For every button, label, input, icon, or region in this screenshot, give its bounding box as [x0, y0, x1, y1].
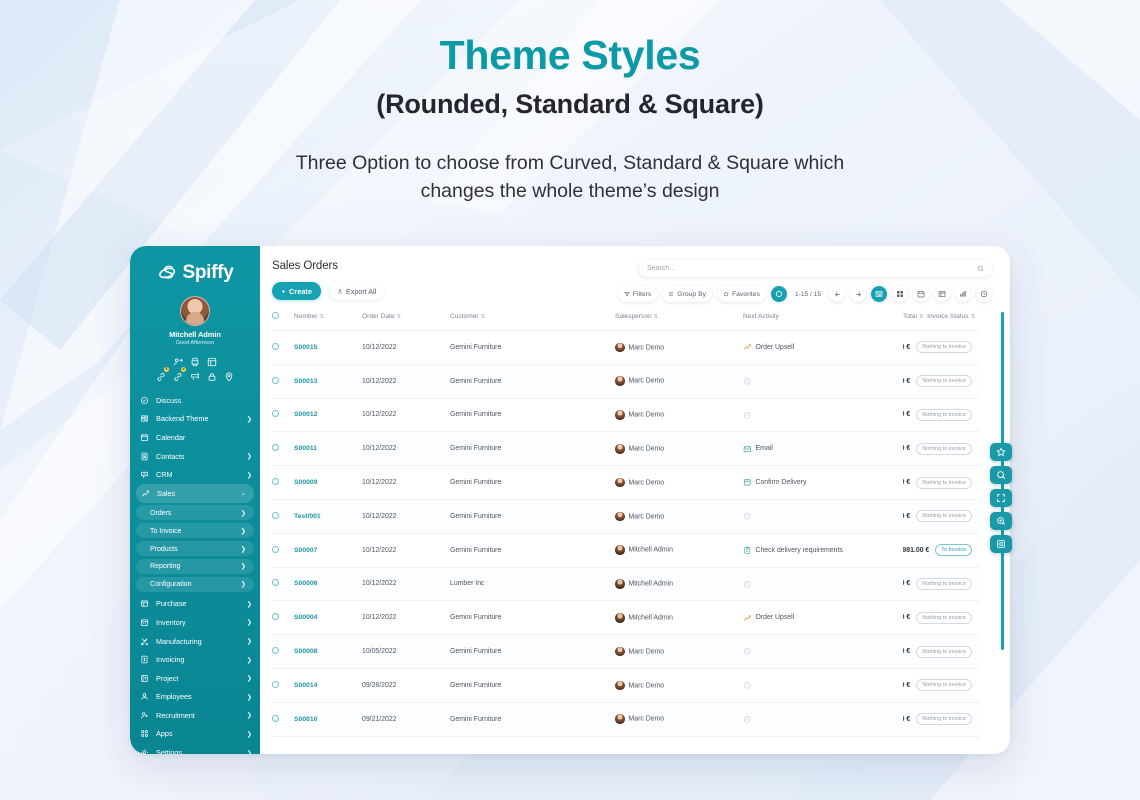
- magnifier-plus-icon: [996, 516, 1006, 526]
- salesperson-name: Mitchell Admin: [629, 615, 673, 622]
- sort-icon: ⇅: [654, 314, 659, 320]
- header-next-activity-label: Next Activity: [743, 313, 779, 320]
- cell-number[interactable]: S00009: [294, 466, 362, 500]
- recruitment-icon: [140, 711, 149, 720]
- sidebar-item-label: Configuration: [150, 580, 234, 588]
- order-number-link[interactable]: S00006: [294, 580, 317, 587]
- cell-next-activity: Check delivery requirements: [743, 533, 903, 567]
- sidebar-nav: DiscussBackend Theme❯CalendarContacts❯CR…: [130, 391, 260, 754]
- row-checkbox[interactable]: [272, 613, 279, 620]
- table-row[interactable]: Test/00110/12/2022Gemini FurnitureMarc D…: [272, 499, 980, 533]
- invoicing-icon: [140, 655, 149, 664]
- row-checkbox-cell[interactable]: [272, 466, 294, 500]
- sidebar-item-label: Invoicing: [156, 655, 240, 664]
- header-total-label: Total: [903, 313, 917, 320]
- cell-number[interactable]: S00014: [294, 668, 362, 702]
- manufacturing-icon: [140, 637, 149, 646]
- sidebar-item-calendar[interactable]: Calendar: [130, 428, 260, 447]
- cell-number[interactable]: S00015: [294, 331, 362, 365]
- search-icon: [996, 470, 1006, 480]
- search-theme-button[interactable]: [990, 466, 1012, 484]
- cell-total-status: 2,962.50 €Nothing to invoice: [903, 398, 980, 432]
- plus-icon: [281, 289, 286, 294]
- avatar[interactable]: [180, 296, 210, 326]
- brand-logo[interactable]: Spiffy: [130, 246, 260, 292]
- salesperson-name: Mitchell Admin: [629, 547, 673, 554]
- header-customer-label: Customer: [450, 313, 479, 320]
- header-order-date-label: Order Date: [362, 313, 395, 320]
- row-checkbox-cell[interactable]: [272, 601, 294, 635]
- total-amount: 14,981.00 €: [903, 547, 929, 554]
- sidebar: Spiffy Mitchell Admin Good Afternoon 5: [130, 246, 260, 754]
- activity-label: Order Upsell: [756, 614, 795, 621]
- clock-icon: [743, 681, 752, 690]
- pivot-view-icon: [938, 290, 946, 298]
- order-number-link[interactable]: S00007: [294, 547, 317, 554]
- header-total-status[interactable]: Total⇅ Invoice Status⇅: [903, 312, 980, 331]
- sidebar-item-label: Settings: [156, 748, 240, 754]
- order-number-link[interactable]: Test/001: [294, 513, 321, 520]
- brand-name: Spiffy: [183, 262, 234, 284]
- row-checkbox-cell[interactable]: [272, 567, 294, 601]
- row-checkbox[interactable]: [272, 478, 279, 485]
- salesperson-name: Marc Demo: [629, 344, 665, 351]
- cell-total-status: 11,837.50 €Nothing to invoice: [903, 668, 980, 702]
- sidebar-item-label: Apps: [156, 729, 240, 738]
- status-badge: To Invoice: [935, 544, 972, 556]
- list-view-icon: [875, 290, 883, 298]
- page-subtitle: (Rounded, Standard & Square): [0, 89, 1140, 120]
- refresh-button[interactable]: [771, 286, 787, 302]
- chart-line-icon: [141, 489, 150, 498]
- avatar: [615, 478, 625, 488]
- row-checkbox[interactable]: [272, 681, 279, 688]
- avatar: [615, 613, 625, 623]
- sidebar-item-label: Backend Theme: [156, 414, 240, 423]
- sidebar-item-inventory[interactable]: Inventory❯: [130, 613, 260, 632]
- cell-customer: Gemini Furniture: [450, 533, 615, 567]
- cell-total-status: 11,050.00 €Nothing to invoice: [903, 364, 980, 398]
- cell-number[interactable]: S00010: [294, 702, 362, 736]
- chevron-right-icon: ❯: [247, 749, 252, 754]
- header-number[interactable]: Number⇅: [294, 312, 362, 331]
- order-number-link[interactable]: S00015: [294, 344, 317, 351]
- chevron-right-icon: ❯: [247, 618, 252, 626]
- chevron-right-icon: ❯: [241, 562, 246, 570]
- chevron-right-icon: ❯: [247, 711, 252, 719]
- quick-icons-row-2: 5 4: [130, 369, 260, 379]
- search-bar[interactable]: [639, 260, 992, 277]
- sidebar-item-label: Inventory: [156, 618, 240, 627]
- chevron-right-icon: ❯: [247, 415, 252, 423]
- header-order-date[interactable]: Order Date⇅: [362, 312, 450, 331]
- pivot-view-button[interactable]: [934, 286, 950, 302]
- table-row[interactable]: S0000710/12/2022Gemini FurnitureMitchell…: [272, 533, 980, 567]
- sidebar-item-invoicing[interactable]: Invoicing❯: [130, 650, 260, 669]
- cell-total-status: 9,772.50 €Nothing to invoice: [903, 635, 980, 669]
- star-icon: [723, 291, 729, 297]
- clipboard-icon: [743, 546, 752, 555]
- cell-number[interactable]: S00007: [294, 533, 362, 567]
- chevron-right-icon: ❯: [247, 674, 252, 682]
- chevron-right-icon: ❯: [247, 730, 252, 738]
- table-row[interactable]: S0001210/12/2022Gemini FurnitureMarc Dem…: [272, 398, 980, 432]
- purchase-icon: [140, 599, 149, 608]
- prev-page-button[interactable]: [829, 286, 845, 302]
- row-checkbox[interactable]: [272, 579, 279, 586]
- row-checkbox[interactable]: [272, 512, 279, 519]
- row-checkbox-cell[interactable]: [272, 702, 294, 736]
- salesperson-name: Marc Demo: [629, 716, 665, 723]
- cell-number[interactable]: S00012: [294, 398, 362, 432]
- group-by-button[interactable]: Group By: [662, 286, 712, 302]
- cell-next-activity: [743, 364, 903, 398]
- row-checkbox[interactable]: [272, 444, 279, 451]
- arrow-left-icon: [834, 291, 841, 298]
- select-all-header[interactable]: [272, 312, 294, 331]
- cell-salesperson: Marc Demo: [615, 702, 743, 736]
- salesperson-name: Marc Demo: [629, 648, 665, 655]
- kanban-view-button[interactable]: [892, 286, 908, 302]
- sidebar-item-orders[interactable]: Orders❯: [136, 505, 254, 520]
- cell-next-activity: Email: [743, 432, 903, 466]
- cell-salesperson: Mitchell Admin: [615, 601, 743, 635]
- sidebar-item-settings[interactable]: Settings❯: [130, 743, 260, 754]
- sidebar-item-contacts[interactable]: Contacts❯: [130, 447, 260, 466]
- order-number-link[interactable]: S00014: [294, 682, 317, 689]
- search-icon[interactable]: [977, 265, 984, 272]
- filters-label: Filters: [633, 291, 652, 298]
- lock-icon[interactable]: [207, 369, 217, 379]
- status-badge: Nothing to invoice: [916, 713, 972, 725]
- row-checkbox[interactable]: [272, 377, 279, 384]
- sidebar-item-products[interactable]: Products❯: [136, 541, 254, 556]
- crm-icon: [140, 470, 149, 479]
- clock-icon: [743, 411, 752, 420]
- order-number-link[interactable]: S00013: [294, 378, 317, 385]
- fullscreen-button[interactable]: [990, 489, 1012, 507]
- salesperson-name: Mitchell Admin: [629, 581, 673, 588]
- search-input[interactable]: [647, 265, 973, 272]
- cell-customer: Lumber Inc: [450, 567, 615, 601]
- cell-next-activity: [743, 635, 903, 669]
- cell-salesperson: Marc Demo: [615, 635, 743, 669]
- chat-icon: [140, 396, 149, 405]
- table-row[interactable]: S0001110/12/2022Gemini FurnitureMarc Dem…: [272, 432, 980, 466]
- total-amount: 3,175.00 €: [903, 445, 910, 452]
- cell-number[interactable]: Test/001: [294, 499, 362, 533]
- cell-next-activity: [743, 398, 903, 432]
- order-number-link[interactable]: S00008: [294, 648, 317, 655]
- total-amount: 7,387.50 €: [903, 716, 910, 723]
- create-button-label: Create: [289, 287, 312, 296]
- cell-order-date: 10/12/2022: [362, 601, 450, 635]
- sort-icon: ⇅: [919, 314, 924, 320]
- hero-section: Theme Styles (Rounded, Standard & Square…: [0, 34, 1140, 206]
- cell-customer: Gemini Furniture: [450, 601, 615, 635]
- total-amount: 7,315.00 €: [903, 513, 910, 520]
- sidebar-item-label: Recruitment: [156, 711, 240, 720]
- activity-view-icon: [980, 290, 988, 298]
- row-checkbox-cell[interactable]: [272, 364, 294, 398]
- salesperson-name: Marc Demo: [629, 378, 665, 385]
- avatar: [615, 545, 625, 555]
- sort-icon: ⇅: [481, 314, 486, 320]
- cell-total-status: 5,125.00 €Nothing to invoice: [903, 466, 980, 500]
- row-checkbox-cell[interactable]: [272, 331, 294, 365]
- cell-salesperson: Marc Demo: [615, 466, 743, 500]
- row-checkbox-cell[interactable]: [272, 668, 294, 702]
- cell-total-status: 750.00 €Nothing to invoice: [903, 567, 980, 601]
- salesperson-name: Marc Demo: [629, 682, 665, 689]
- row-checkbox-cell[interactable]: [272, 432, 294, 466]
- cell-next-activity: [743, 499, 903, 533]
- row-checkbox[interactable]: [272, 410, 279, 417]
- row-checkbox[interactable]: [272, 343, 279, 350]
- avatar: [615, 579, 625, 589]
- grid-apps-icon[interactable]: [207, 354, 217, 364]
- table-row[interactable]: S0001409/28/2022Gemini FurnitureMarc Dem…: [272, 668, 980, 702]
- status-badge: Nothing to invoice: [916, 612, 972, 624]
- salesperson-name: Marc Demo: [629, 446, 665, 453]
- total-amount: 5,125.00 €: [903, 479, 910, 486]
- sidebar-item-label: Employees: [156, 692, 240, 701]
- order-number-link[interactable]: S00004: [294, 614, 317, 621]
- cell-order-date: 09/21/2022: [362, 702, 450, 736]
- save-layout-button[interactable]: [990, 535, 1012, 553]
- table-header-row: Number⇅ Order Date⇅ Customer⇅ Salesperso…: [272, 312, 980, 331]
- calendar-view-button[interactable]: [913, 286, 929, 302]
- cell-total-status: 7,315.00 €Nothing to invoice: [903, 499, 980, 533]
- zoom-button[interactable]: [990, 512, 1012, 530]
- apps-icon: [140, 729, 149, 738]
- contacts-icon: [140, 452, 149, 461]
- spiffy-logo-icon: [157, 262, 179, 284]
- header-salesperson[interactable]: Salesperson⇅: [615, 312, 743, 331]
- cell-customer: Gemini Furniture: [450, 635, 615, 669]
- header-invoice-status-label: Invoice Status: [927, 313, 968, 320]
- row-checkbox[interactable]: [272, 647, 279, 654]
- table-row[interactable]: S0001310/12/2022Gemini FurnitureMarc Dem…: [272, 364, 980, 398]
- sidebar-item-purchase[interactable]: Purchase❯: [130, 595, 260, 614]
- cell-order-date: 10/12/2022: [362, 567, 450, 601]
- cell-salesperson: Marc Demo: [615, 668, 743, 702]
- activity-label: Email: [756, 445, 773, 452]
- sidebar-item-crm[interactable]: CRM❯: [130, 465, 260, 484]
- chevron-right-icon: ❯: [241, 509, 246, 517]
- row-checkbox-cell[interactable]: [272, 499, 294, 533]
- cell-order-date: 10/12/2022: [362, 499, 450, 533]
- row-checkbox[interactable]: [272, 546, 279, 553]
- kanban-view-icon: [896, 290, 904, 298]
- sidebar-item-discuss[interactable]: Discuss: [130, 391, 260, 410]
- orders-table-container[interactable]: Number⇅ Order Date⇅ Customer⇅ Salesperso…: [260, 312, 1010, 754]
- project-icon: [140, 674, 149, 683]
- chevron-right-icon: ❯: [247, 693, 252, 701]
- avatar: [615, 444, 625, 454]
- avatar: [615, 376, 625, 386]
- order-number-link[interactable]: S00010: [294, 716, 317, 723]
- sidebar-item-apps[interactable]: Apps❯: [130, 725, 260, 744]
- row-checkbox[interactable]: [272, 715, 279, 722]
- activity-label: Order Upsell: [756, 344, 795, 351]
- email-icon: [743, 445, 752, 454]
- header-customer[interactable]: Customer⇅: [450, 312, 615, 331]
- table-row[interactable]: S0000810/05/2022Gemini FurnitureMarc Dem…: [272, 635, 980, 669]
- link-icon[interactable]: 5: [156, 369, 166, 379]
- sidebar-item-to-invoice[interactable]: To Invoice❯: [136, 523, 254, 538]
- cell-total-status: 2,240.00 €Nothing to invoice: [903, 601, 980, 635]
- sidebar-item-manufacturing[interactable]: Manufacturing❯: [130, 632, 260, 651]
- employees-icon: [140, 692, 149, 701]
- badge-count: 5: [164, 367, 169, 372]
- link-alt-icon[interactable]: 4: [173, 369, 183, 379]
- cell-next-activity: [743, 702, 903, 736]
- cell-salesperson: Marc Demo: [615, 364, 743, 398]
- cell-order-date: 10/12/2022: [362, 432, 450, 466]
- cell-customer: Gemini Furniture: [450, 331, 615, 365]
- graph-view-button[interactable]: [955, 286, 971, 302]
- orders-table: Number⇅ Order Date⇅ Customer⇅ Salesperso…: [272, 312, 980, 737]
- download-icon: [337, 288, 343, 294]
- sidebar-item-label: Contacts: [156, 452, 240, 461]
- cell-number[interactable]: S00011: [294, 432, 362, 466]
- clock-icon: [743, 377, 752, 386]
- export-all-button[interactable]: Export All: [329, 282, 384, 300]
- total-amount: 9,772.50 €: [903, 648, 910, 655]
- table-row[interactable]: S0001510/12/2022Gemini FurnitureMarc Dem…: [272, 331, 980, 365]
- table-row[interactable]: S0000610/12/2022Lumber IncMitchell Admin…: [272, 567, 980, 601]
- total-amount: 11,837.50 €: [903, 682, 910, 689]
- favorites-label: Favorites: [732, 291, 760, 298]
- row-checkbox-cell[interactable]: [272, 398, 294, 432]
- row-checkbox-cell[interactable]: [272, 635, 294, 669]
- total-amount: 750.00 €: [903, 580, 910, 587]
- inventory-icon: [140, 618, 149, 627]
- sidebar-item-recruitment[interactable]: Recruitment❯: [130, 706, 260, 725]
- header-next-activity[interactable]: Next Activity: [743, 312, 903, 331]
- activity-label: Check delivery requirements: [756, 547, 843, 554]
- activity-view-button[interactable]: [976, 286, 992, 302]
- export-all-label: Export All: [346, 287, 376, 296]
- cell-customer: Gemini Furniture: [450, 398, 615, 432]
- sidebar-item-employees[interactable]: Employees❯: [130, 687, 260, 706]
- row-checkbox-cell[interactable]: [272, 533, 294, 567]
- sidebar-item-label: Products: [150, 545, 234, 553]
- calendar-view-icon: [917, 290, 925, 298]
- cell-total-status: 14,981.00 €To Invoice: [903, 533, 980, 567]
- sidebar-item-label: Discuss: [156, 396, 252, 405]
- chevron-right-icon: ❯: [247, 637, 252, 645]
- cell-next-activity: Order Upsell: [743, 331, 903, 365]
- total-amount: 2,962.50 €: [903, 411, 910, 418]
- sidebar-item-sales[interactable]: Sales⌄: [136, 484, 254, 503]
- sidebar-item-label: Reporting: [150, 562, 234, 570]
- cell-number[interactable]: S00004: [294, 601, 362, 635]
- sidebar-item-label: Purchase: [156, 599, 240, 608]
- cell-number[interactable]: S00013: [294, 364, 362, 398]
- activity-label: Confirm Delivery: [756, 479, 807, 486]
- chevron-right-icon: ❯: [247, 600, 252, 608]
- next-page-button[interactable]: [850, 286, 866, 302]
- sidebar-item-label: Calendar: [156, 433, 252, 442]
- filter-icon: [624, 291, 630, 297]
- cell-order-date: 10/12/2022: [362, 398, 450, 432]
- chart-upsell-icon: [743, 614, 752, 623]
- chevron-right-icon: ❯: [241, 580, 246, 588]
- user-panel: Mitchell Admin Good Afternoon: [130, 292, 260, 346]
- table-head: Number⇅ Order Date⇅ Customer⇅ Salesperso…: [272, 312, 980, 331]
- chart-upsell-icon: [743, 343, 752, 352]
- cell-customer: Gemini Furniture: [450, 702, 615, 736]
- status-badge: Nothing to invoice: [916, 375, 972, 387]
- sort-icon: ⇅: [319, 314, 324, 320]
- list-view-button[interactable]: [871, 286, 887, 302]
- status-badge: Nothing to invoice: [916, 679, 972, 691]
- breadcrumb: Sales Orders: [272, 260, 384, 272]
- sort-icon: ⇅: [971, 314, 976, 320]
- print-icon[interactable]: [190, 354, 200, 364]
- status-badge: Nothing to invoice: [916, 578, 972, 590]
- cell-total-status: 7,387.50 €Nothing to invoice: [903, 702, 980, 736]
- cell-salesperson: Marc Demo: [615, 499, 743, 533]
- cell-order-date: 10/12/2022: [362, 466, 450, 500]
- cell-number[interactable]: S00008: [294, 635, 362, 669]
- page-description: Three Option to choose from Curved, Stan…: [0, 149, 1140, 206]
- cell-number[interactable]: S00006: [294, 567, 362, 601]
- table-row[interactable]: S0000410/12/2022Gemini FurnitureMitchell…: [272, 601, 980, 635]
- pin-icon[interactable]: [224, 369, 234, 379]
- sidebar-item-project[interactable]: Project❯: [130, 669, 260, 688]
- order-number-link[interactable]: S00009: [294, 479, 317, 486]
- sidebar-item-configuration[interactable]: Configuration❯: [136, 577, 254, 592]
- select-all-checkbox[interactable]: [272, 312, 279, 319]
- sidebar-item-label: To Invoice: [150, 527, 234, 535]
- chevron-right-icon: ❯: [241, 527, 246, 535]
- order-number-link[interactable]: S00011: [294, 445, 317, 452]
- sidebar-item-label: Sales: [157, 489, 234, 498]
- filters-button[interactable]: Filters: [618, 286, 658, 302]
- order-number-link[interactable]: S00012: [294, 411, 317, 418]
- status-badge: Nothing to invoice: [916, 409, 972, 421]
- table-row[interactable]: S0000910/12/2022Gemini FurnitureMarc Dem…: [272, 466, 980, 500]
- create-button[interactable]: Create: [272, 282, 321, 300]
- star-icon: [996, 447, 1006, 457]
- list-icon: [668, 291, 674, 297]
- table-body: S0001510/12/2022Gemini FurnitureMarc Dem…: [272, 331, 980, 737]
- spinner-icon: [775, 290, 783, 298]
- salesperson-name: Marc Demo: [629, 479, 665, 486]
- calendar-check-icon: [743, 478, 752, 487]
- user-name: Mitchell Admin: [130, 330, 260, 339]
- chevron-right-icon: ❯: [247, 452, 252, 460]
- description-line-2: changes the whole theme’s design: [421, 180, 720, 202]
- cell-customer: Gemini Furniture: [450, 499, 615, 533]
- sidebar-item-label: Project: [156, 674, 240, 683]
- user-switch-icon[interactable]: [173, 354, 183, 364]
- cell-customer: Gemini Furniture: [450, 466, 615, 500]
- avatar: [615, 647, 625, 657]
- avatar: [615, 410, 625, 420]
- table-row[interactable]: S0001009/21/2022Gemini FurnitureMarc Dem…: [272, 702, 980, 736]
- clock-icon: [743, 580, 752, 589]
- salesperson-name: Marc Demo: [629, 412, 665, 419]
- megaphone-icon[interactable]: [190, 369, 200, 379]
- sidebar-item-reporting[interactable]: Reporting❯: [136, 559, 254, 574]
- favorite-theme-button[interactable]: [990, 443, 1012, 461]
- favorites-button[interactable]: Favorites: [717, 286, 766, 302]
- sidebar-item-backend-theme[interactable]: Backend Theme❯: [130, 410, 260, 429]
